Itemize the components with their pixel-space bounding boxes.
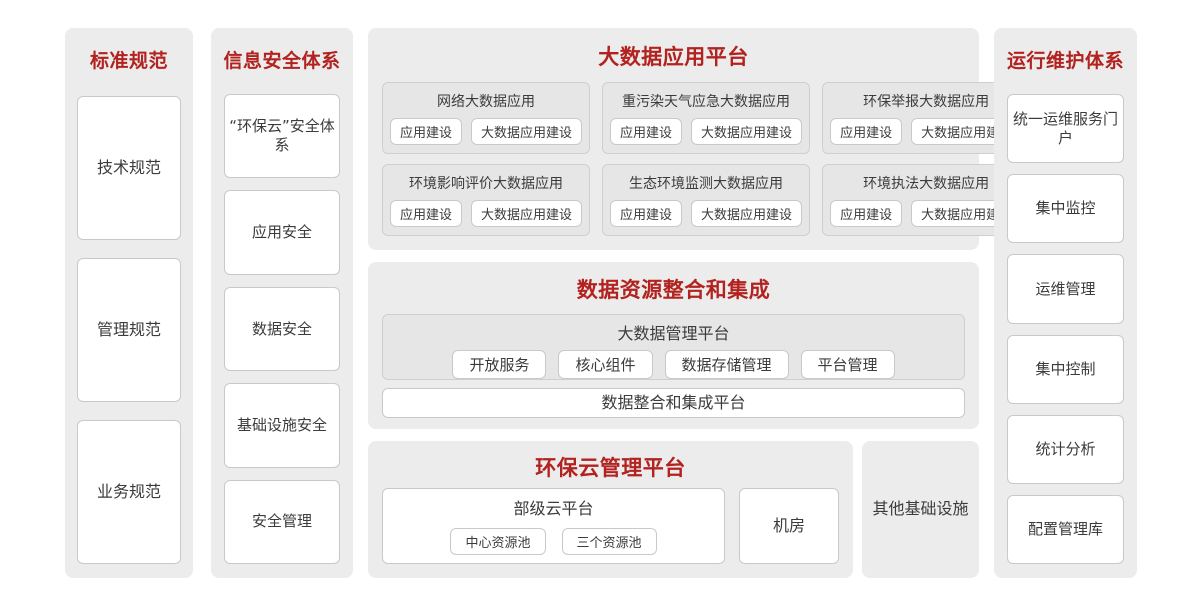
panel-data-resource-integration: 数据资源整合和集成 大数据管理平台 开放服务 核心组件 数据存储管理 平台管理 …	[368, 262, 979, 429]
panel-information-security-title: 信息安全体系	[211, 46, 353, 73]
panel-standards-title: 标准规范	[65, 46, 193, 73]
panel-environmental-cloud-management: 环保云管理平台 部级云平台 中心资源池 三个资源池 机房	[368, 441, 853, 578]
security-item-cloud-security-system[interactable]: “环保云”安全体系	[224, 94, 340, 178]
panel-operations-maintenance: 运行维护体系 统一运维服务门户 集中监控 运维管理 集中控制 统计分析 配置管理…	[994, 28, 1137, 578]
panel-data-resource-integration-title: 数据资源整合和集成	[368, 262, 979, 304]
panel-operations-maintenance-title: 运行维护体系	[994, 46, 1137, 73]
pill-data-storage-management[interactable]: 数据存储管理	[665, 350, 789, 379]
ops-item-configuration-management-db[interactable]: 配置管理库	[1007, 495, 1124, 564]
bigdata-group-network-title: 网络大数据应用	[390, 91, 582, 111]
standards-item-business[interactable]: 业务规范	[77, 420, 181, 564]
standards-item-technical[interactable]: 技术规范	[77, 96, 181, 240]
pill-bigdata-app-construction[interactable]: 大数据应用建设	[471, 118, 582, 145]
pill-app-construction[interactable]: 应用建设	[610, 118, 682, 145]
bigdata-management-platform-title: 大数据管理平台	[383, 320, 964, 344]
standards-item-list: 技术规范 管理规范 业务规范	[77, 96, 181, 564]
ministry-cloud-platform-group[interactable]: 部级云平台 中心资源池 三个资源池	[382, 488, 725, 564]
bigdata-group-heavy-pollution-weather-pills: 应用建设 大数据应用建设	[610, 118, 802, 145]
security-item-list: “环保云”安全体系 应用安全 数据安全 基础设施安全 安全管理	[224, 94, 340, 564]
pill-open-service[interactable]: 开放服务	[452, 350, 546, 379]
security-item-infrastructure-security[interactable]: 基础设施安全	[224, 383, 340, 467]
bigdata-group-heavy-pollution-weather[interactable]: 重污染天气应急大数据应用 应用建设 大数据应用建设	[602, 82, 810, 154]
bigdata-management-platform-group[interactable]: 大数据管理平台 开放服务 核心组件 数据存储管理 平台管理	[382, 314, 965, 380]
ops-item-unified-service-portal[interactable]: 统一运维服务门户	[1007, 94, 1124, 163]
panel-information-security: 信息安全体系 “环保云”安全体系 应用安全 数据安全 基础设施安全 安全管理	[211, 28, 353, 578]
bigdata-group-grid: 网络大数据应用 应用建设 大数据应用建设 重污染天气应急大数据应用 应用建设 大…	[382, 82, 965, 236]
data-integration-platform-card[interactable]: 数据整合和集成平台	[382, 388, 965, 418]
other-infrastructure-label: 其他基础设施	[872, 499, 968, 520]
panel-bigdata-application-platform: 大数据应用平台 网络大数据应用 应用建设 大数据应用建设 重污染天气应急大数据应…	[368, 28, 979, 250]
security-item-application-security[interactable]: 应用安全	[224, 190, 340, 274]
panel-environmental-cloud-management-title: 环保云管理平台	[368, 441, 853, 482]
pill-central-resource-pool[interactable]: 中心资源池	[450, 528, 545, 555]
pill-bigdata-app-construction[interactable]: 大数据应用建设	[471, 200, 582, 227]
ops-item-operations-management[interactable]: 运维管理	[1007, 254, 1124, 323]
ministry-cloud-platform-title: 部级云平台	[383, 495, 724, 519]
panel-bigdata-title: 大数据应用平台	[368, 28, 979, 71]
pill-app-construction[interactable]: 应用建设	[390, 118, 462, 145]
cloud-content-row: 部级云平台 中心资源池 三个资源池 机房	[382, 488, 839, 564]
ops-item-statistical-analysis[interactable]: 统计分析	[1007, 415, 1124, 484]
pill-app-construction[interactable]: 应用建设	[610, 200, 682, 227]
panel-other-infrastructure[interactable]: 其他基础设施	[862, 441, 979, 578]
pill-core-components[interactable]: 核心组件	[558, 350, 652, 379]
pill-app-construction[interactable]: 应用建设	[830, 118, 902, 145]
standards-item-management[interactable]: 管理规范	[77, 258, 181, 402]
ops-item-centralized-control[interactable]: 集中控制	[1007, 335, 1124, 404]
pill-bigdata-app-construction[interactable]: 大数据应用建设	[691, 118, 802, 145]
bigdata-group-network[interactable]: 网络大数据应用 应用建设 大数据应用建设	[382, 82, 590, 154]
pill-app-construction[interactable]: 应用建设	[830, 200, 902, 227]
datacenter-card[interactable]: 机房	[739, 488, 839, 564]
bigdata-group-network-pills: 应用建设 大数据应用建设	[390, 118, 582, 145]
pill-platform-management[interactable]: 平台管理	[801, 350, 895, 379]
architecture-diagram: 标准规范 技术规范 管理规范 业务规范 信息安全体系 “环保云”安全体系 应用安…	[0, 0, 1201, 614]
bigdata-group-heavy-pollution-weather-title: 重污染天气应急大数据应用	[610, 91, 802, 111]
bigdata-group-ecological-monitoring-pills: 应用建设 大数据应用建设	[610, 200, 802, 227]
pill-three-resource-pools[interactable]: 三个资源池	[562, 528, 657, 555]
bigdata-group-environmental-impact-assessment-pills: 应用建设 大数据应用建设	[390, 200, 582, 227]
ops-item-list: 统一运维服务门户 集中监控 运维管理 集中控制 统计分析 配置管理库	[1007, 94, 1124, 564]
bigdata-group-ecological-monitoring[interactable]: 生态环境监测大数据应用 应用建设 大数据应用建设	[602, 164, 810, 236]
bigdata-group-environmental-impact-assessment-title: 环境影响评价大数据应用	[390, 173, 582, 193]
ministry-cloud-platform-pills: 中心资源池 三个资源池	[383, 528, 724, 555]
bigdata-group-environmental-impact-assessment[interactable]: 环境影响评价大数据应用 应用建设 大数据应用建设	[382, 164, 590, 236]
panel-standards: 标准规范 技术规范 管理规范 业务规范	[65, 28, 193, 578]
pill-bigdata-app-construction[interactable]: 大数据应用建设	[691, 200, 802, 227]
pill-app-construction[interactable]: 应用建设	[390, 200, 462, 227]
security-item-security-management[interactable]: 安全管理	[224, 480, 340, 564]
bigdata-group-ecological-monitoring-title: 生态环境监测大数据应用	[610, 173, 802, 193]
security-item-data-security[interactable]: 数据安全	[224, 287, 340, 371]
ops-item-centralized-monitoring[interactable]: 集中监控	[1007, 174, 1124, 243]
bigdata-management-platform-pills: 开放服务 核心组件 数据存储管理 平台管理	[383, 350, 964, 379]
